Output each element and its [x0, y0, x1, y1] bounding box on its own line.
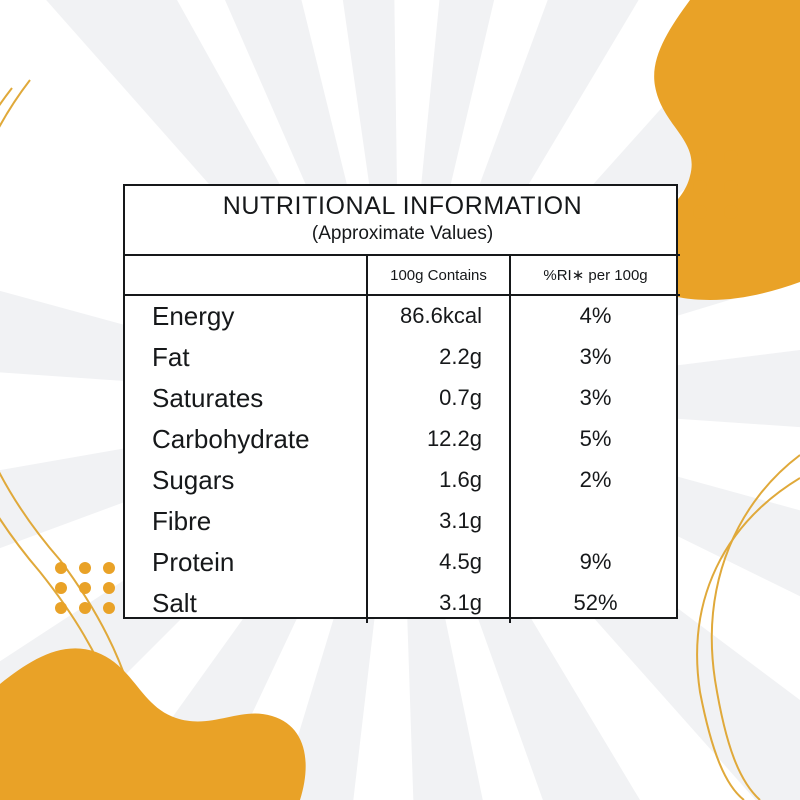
nutrition-table-panel: NUTRITIONAL INFORMATION (Approximate Val… [123, 184, 678, 619]
column-header-amount: 100g Contains [367, 255, 510, 295]
nutrient-ri: 3% [510, 336, 680, 377]
nutrient-name: Saturates [125, 377, 367, 418]
nutrient-amount: 86.6kcal [367, 295, 510, 336]
nutrient-name: Carbohydrate [125, 418, 367, 459]
table-title-cell: NUTRITIONAL INFORMATION (Approximate Val… [125, 186, 680, 255]
nutrient-amount: 4.5g [367, 541, 510, 582]
nutrient-amount: 1.6g [367, 459, 510, 500]
table-title-row: NUTRITIONAL INFORMATION (Approximate Val… [125, 186, 680, 255]
nutrient-ri [510, 500, 680, 541]
table-row: Saturates 0.7g 3% [125, 377, 680, 418]
page-title: NUTRITIONAL INFORMATION [129, 193, 676, 221]
nutrient-amount: 12.2g [367, 418, 510, 459]
nutrient-amount: 0.7g [367, 377, 510, 418]
nutrient-ri: 4% [510, 295, 680, 336]
nutrient-name: Protein [125, 541, 367, 582]
nutrient-name: Salt [125, 582, 367, 623]
nutrient-amount: 3.1g [367, 500, 510, 541]
table-row: Carbohydrate 12.2g 5% [125, 418, 680, 459]
table-row: Fibre 3.1g [125, 500, 680, 541]
column-header-ri: %RI∗ per 100g [510, 255, 680, 295]
table-row: Fat 2.2g 3% [125, 336, 680, 377]
table-row: Salt 3.1g 52% [125, 582, 680, 623]
nutrient-ri: 2% [510, 459, 680, 500]
nutrient-name: Sugars [125, 459, 367, 500]
nutrient-ri: 52% [510, 582, 680, 623]
nutrition-table: NUTRITIONAL INFORMATION (Approximate Val… [125, 186, 680, 623]
page-subtitle: (Approximate Values) [129, 222, 676, 246]
nutrient-amount: 3.1g [367, 582, 510, 623]
nutrient-name: Energy [125, 295, 367, 336]
column-header-nutrient [125, 255, 367, 295]
dot-grid-bottom-left [55, 562, 115, 614]
nutrient-name: Fat [125, 336, 367, 377]
table-row: Protein 4.5g 9% [125, 541, 680, 582]
table-row: Energy 86.6kcal 4% [125, 295, 680, 336]
nutrient-name: Fibre [125, 500, 367, 541]
nutrient-amount: 2.2g [367, 336, 510, 377]
table-header-row: 100g Contains %RI∗ per 100g [125, 255, 680, 295]
nutrient-ri: 9% [510, 541, 680, 582]
nutrient-ri: 3% [510, 377, 680, 418]
nutrient-ri: 5% [510, 418, 680, 459]
table-row: Sugars 1.6g 2% [125, 459, 680, 500]
